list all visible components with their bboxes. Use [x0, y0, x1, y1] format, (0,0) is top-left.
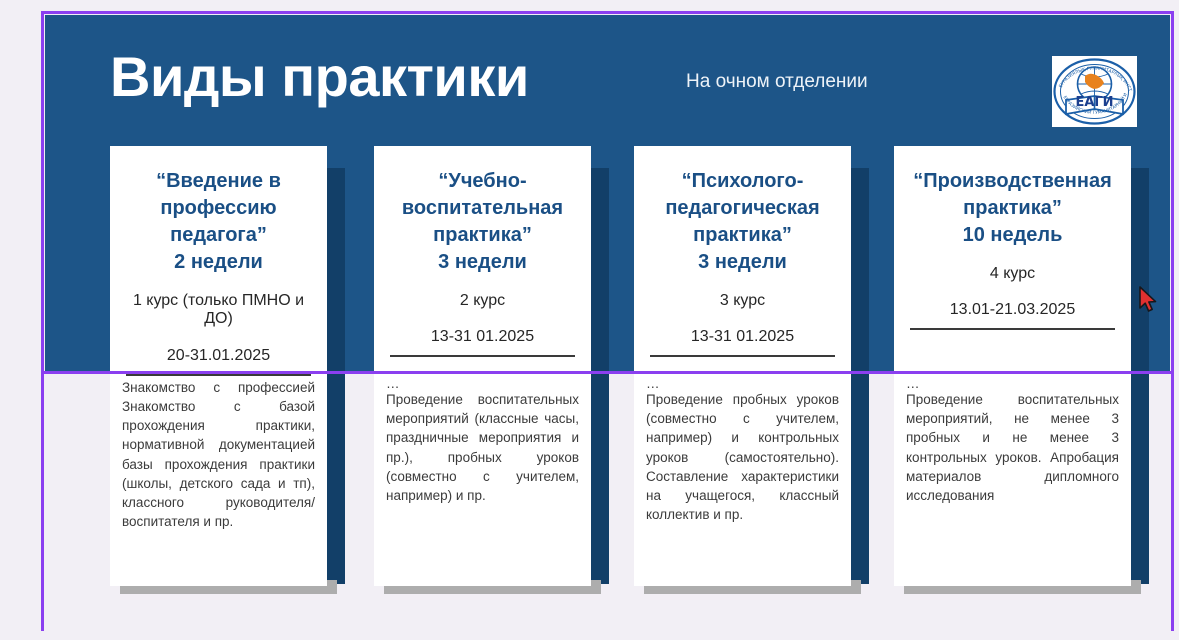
card-divider: [650, 355, 835, 357]
practice-card[interactable]: “Учебно-воспитательная практика”3 недели…: [374, 146, 591, 586]
page-title: Виды практики: [110, 48, 529, 107]
card-body-text: Проведение воспитательных мероприятий (к…: [386, 392, 579, 503]
card-header: “Производственная практика”10 недель 4 к…: [894, 146, 1131, 372]
card-header: “Введение в профессию педагога”2 недели …: [110, 146, 327, 372]
practice-card[interactable]: “Психолого-педагогическая практика”3 нед…: [634, 146, 851, 586]
card-body: …Проведение пробных уроков (совместно с …: [634, 372, 851, 586]
page-subtitle: На очном отделении: [686, 71, 868, 93]
card-course: 2 курс: [384, 292, 581, 310]
card-body-text: Знакомство с профессией Знакомство с баз…: [122, 380, 315, 529]
card-course: 1 курс (только ПМНО и ДО): [120, 292, 317, 329]
card-course: 4 курс: [904, 265, 1121, 283]
slide-canvas: Виды практики На очном отделении ЕАГИ ЕУ…: [0, 0, 1179, 640]
card-lead-ellipsis: …: [386, 378, 579, 390]
institution-logo: ЕАГИ ЕУРАЗИЯЛЫҚ ГУМАНИТАРЛЫҚ ИНСТИТУТЫ Е…: [1052, 56, 1137, 127]
card-dates: 13-31 01.2025: [384, 328, 581, 346]
card-shadow: [327, 168, 345, 584]
practice-card[interactable]: “Производственная практика”10 недель 4 к…: [894, 146, 1131, 586]
card-lead-ellipsis: …: [906, 378, 1119, 390]
card-shadow: [591, 168, 609, 584]
selection-frame-divider: [41, 371, 1174, 374]
svg-text:ЕАГИ: ЕАГИ: [1075, 95, 1113, 110]
card-header: “Учебно-воспитательная практика”3 недели…: [374, 146, 591, 372]
card-lead-ellipsis: …: [646, 378, 839, 390]
card-shadow: [851, 168, 869, 584]
card-dates: 13.01-21.03.2025: [904, 301, 1121, 319]
card-dates: 20-31.01.2025: [120, 347, 317, 365]
practice-card[interactable]: “Введение в профессию педагога”2 недели …: [110, 146, 327, 586]
card-body: …Проведение воспитательных мероприятий (…: [374, 372, 591, 586]
card-divider: [910, 328, 1115, 330]
card-body-text: Проведение пробных уроков (совместно с у…: [646, 392, 839, 522]
card-title: “Психолого-педагогическая практика”3 нед…: [644, 168, 841, 276]
card-title: “Производственная практика”10 недель: [904, 168, 1121, 249]
card-body: …Проведение воспитательных мероприятий, …: [894, 372, 1131, 586]
card-course: 3 курс: [644, 292, 841, 310]
card-body-text: Проведение воспитательных мероприятий, н…: [906, 392, 1119, 503]
card-divider: [390, 355, 575, 357]
card-shadow: [1131, 168, 1149, 584]
card-dates: 13-31 01.2025: [644, 328, 841, 346]
card-title: “Введение в профессию педагога”2 недели: [120, 168, 317, 276]
card-title: “Учебно-воспитательная практика”3 недели: [384, 168, 581, 276]
card-body: Знакомство с профессией Знакомство с баз…: [110, 372, 327, 586]
card-header: “Психолого-педагогическая практика”3 нед…: [634, 146, 851, 372]
